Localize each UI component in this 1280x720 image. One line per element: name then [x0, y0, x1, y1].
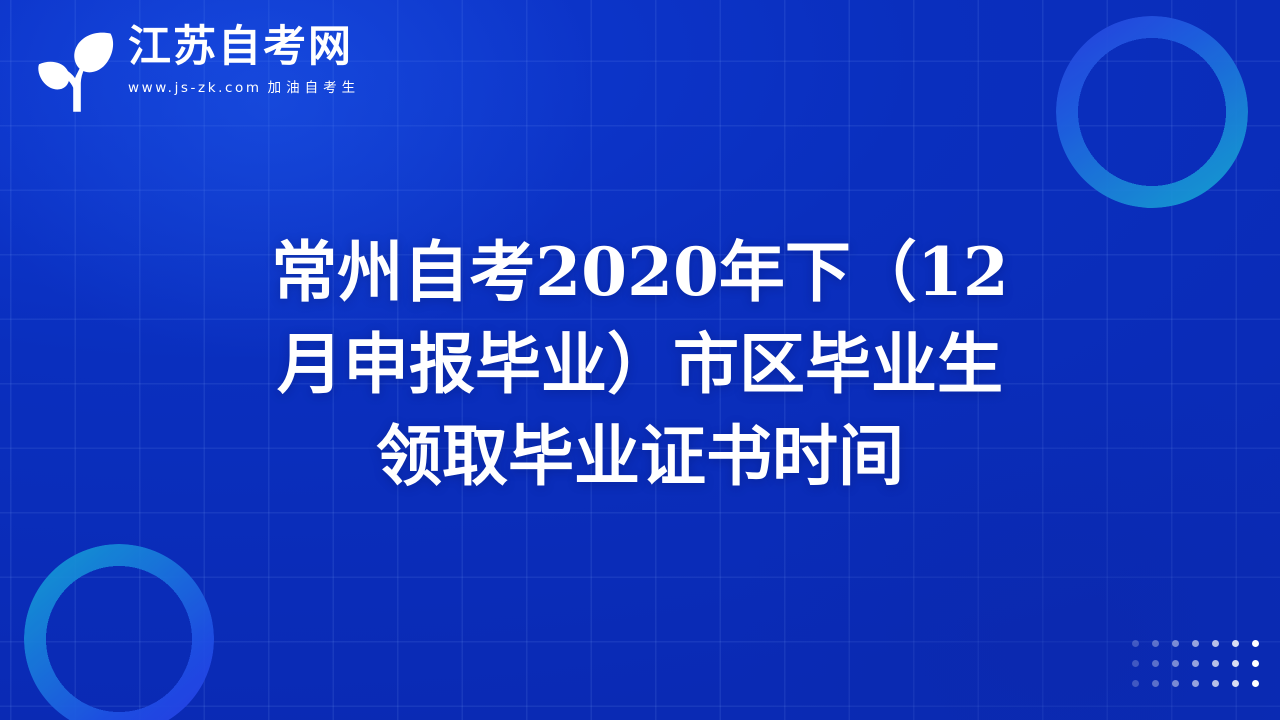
poster-canvas: 江苏自考网 www.js-zk.com加油自考生 常州自考2020年下（12 月…	[0, 0, 1280, 720]
page-title-line-1: 常州自考2020年下（12	[150, 226, 1130, 318]
logo-website: www.js-zk.com	[128, 80, 262, 96]
page-title-line-2: 月申报毕业）市区毕业生	[150, 318, 1130, 410]
page-title-line-3: 领取毕业证书时间	[150, 410, 1130, 502]
logo-subtitle: www.js-zk.com加油自考生	[128, 82, 360, 96]
logo-slogan: 加油自考生	[268, 80, 361, 96]
decorative-dot-grid	[1130, 637, 1270, 697]
site-logo[interactable]: 江苏自考网 www.js-zk.com加油自考生	[36, 26, 360, 112]
page-title: 常州自考2020年下（12 月申报毕业）市区毕业生 领取毕业证书时间	[0, 226, 1280, 502]
sprout-leaf-icon	[36, 28, 118, 112]
decorative-ring-bottom-left	[24, 544, 214, 720]
logo-title: 江苏自考网	[128, 26, 360, 69]
decorative-ring-top-right	[1056, 16, 1248, 208]
logo-text-block: 江苏自考网 www.js-zk.com加油自考生	[128, 26, 360, 96]
